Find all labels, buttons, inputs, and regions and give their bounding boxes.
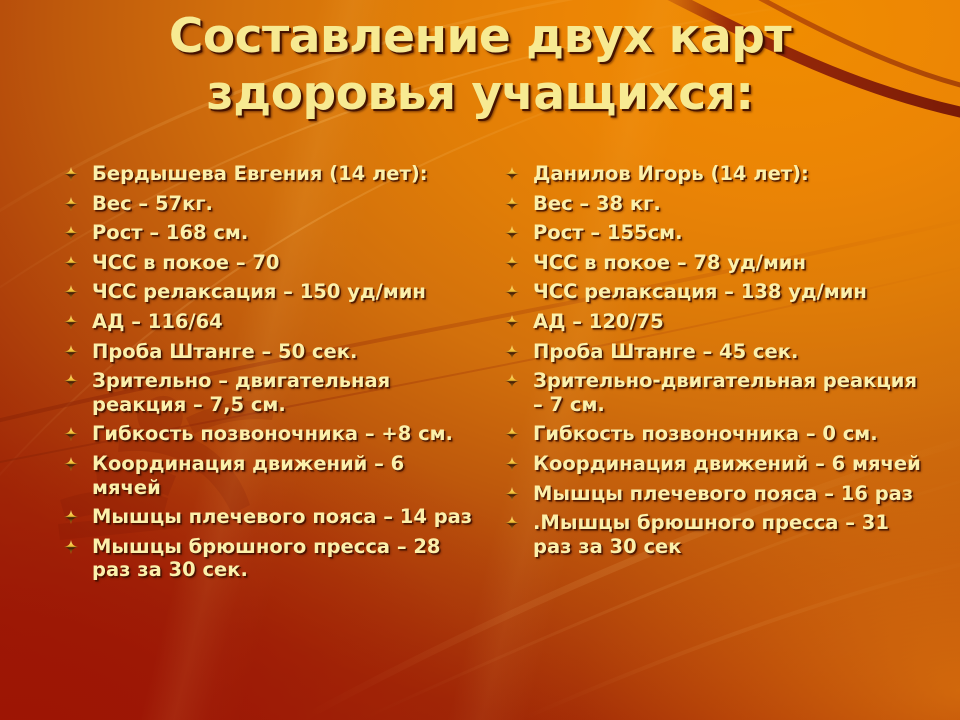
bullet-text: Зрительно-двигательная реакция – 7 см. — [533, 369, 917, 416]
bullet-item: Проба Штанге – 50 сек. — [58, 340, 478, 364]
bullet-text: АД – 116/64 — [92, 310, 223, 333]
four-point-star-bullet-icon — [505, 197, 519, 211]
bullet-text: .Мышцы брюшного пресса – 31 раз за 30 се… — [533, 511, 889, 558]
bullet-item: Гибкость позвоночника – 0 см. — [498, 422, 930, 446]
bullet-item: Вес – 57кг. — [58, 192, 478, 216]
bullet-text: ЧСС релаксация – 138 уд/мин — [533, 280, 867, 303]
four-point-star-bullet-icon — [64, 374, 78, 388]
four-point-star-bullet-icon — [64, 256, 78, 270]
bullet-item: Зрительно – двигательная реакция – 7,5 с… — [58, 369, 478, 416]
four-point-star-bullet-icon — [64, 285, 78, 299]
bullet-text: Данилов Игорь (14 лет): — [533, 162, 809, 185]
bullet-text: ЧСС релаксация – 150 уд/мин — [92, 280, 426, 303]
four-point-star-bullet-icon — [505, 487, 519, 501]
four-point-star-bullet-icon — [64, 315, 78, 329]
four-point-star-bullet-icon — [64, 197, 78, 211]
bullet-item: Мышцы брюшного пресса – 28 раз за 30 сек… — [58, 535, 478, 582]
bullet-text: Вес – 57кг. — [92, 192, 213, 215]
bullet-item: Рост – 155см. — [498, 221, 930, 245]
bullet-text: АД – 120/75 — [533, 310, 664, 333]
bullet-item: Мышцы плечевого пояса – 14 раз — [58, 505, 478, 529]
four-point-star-bullet-icon — [505, 345, 519, 359]
four-point-star-bullet-icon — [505, 427, 519, 441]
bullet-list-right: Данилов Игорь (14 лет):Вес – 38 кг.Рост … — [498, 162, 930, 558]
four-point-star-bullet-icon — [64, 427, 78, 441]
column-right-danilov: Данилов Игорь (14 лет):Вес – 38 кг.Рост … — [498, 162, 930, 564]
four-point-star-bullet-icon — [505, 226, 519, 240]
bullet-text: Координация движений – 6 мячей — [92, 452, 404, 499]
four-point-star-bullet-icon — [505, 315, 519, 329]
bullet-item: ЧСС в покое – 70 — [58, 251, 478, 275]
bullet-item: Мышцы плечевого пояса – 16 раз — [498, 482, 930, 506]
bullet-text: Рост – 155см. — [533, 221, 683, 244]
four-point-star-bullet-icon — [505, 256, 519, 270]
four-point-star-bullet-icon — [64, 540, 78, 554]
bullet-item: Рост – 168 см. — [58, 221, 478, 245]
bullet-item: .Мышцы брюшного пресса – 31 раз за 30 се… — [498, 511, 930, 558]
bullet-text: Вес – 38 кг. — [533, 192, 661, 215]
four-point-star-bullet-icon — [64, 457, 78, 471]
slide-title: Составление двух карт здоровья учащихся: — [0, 8, 960, 123]
bullet-item: АД – 120/75 — [498, 310, 930, 334]
bullet-item: АД – 116/64 — [58, 310, 478, 334]
bullet-text: Мышцы брюшного пресса – 28 раз за 30 сек… — [92, 535, 441, 582]
bullet-text: Рост – 168 см. — [92, 221, 248, 244]
bullet-text: Координация движений – 6 мячей — [533, 452, 921, 475]
bullet-item: ЧСС релаксация – 138 уд/мин — [498, 280, 930, 304]
four-point-star-bullet-icon — [64, 226, 78, 240]
bullet-item: Координация движений – 6 мячей — [58, 452, 478, 499]
bullet-text: Проба Штанге – 45 сек. — [533, 340, 798, 363]
bullet-text: ЧСС в покое – 78 уд/мин — [533, 251, 806, 274]
bullet-item: Вес – 38 кг. — [498, 192, 930, 216]
column-left-berdysheva: Бердышева Евгения (14 лет):Вес – 57кг.Ро… — [58, 162, 478, 588]
bullet-item: Зрительно-двигательная реакция – 7 см. — [498, 369, 930, 416]
bullet-item: ЧСС релаксация – 150 уд/мин — [58, 280, 478, 304]
bullet-list-left: Бердышева Евгения (14 лет):Вес – 57кг.Ро… — [58, 162, 478, 582]
bullet-text: ЧСС в покое – 70 — [92, 251, 280, 274]
bullet-item: ЧСС в покое – 78 уд/мин — [498, 251, 930, 275]
four-point-star-bullet-icon — [505, 374, 519, 388]
bullet-item: Проба Штанге – 45 сек. — [498, 340, 930, 364]
bullet-text: Проба Штанге – 50 сек. — [92, 340, 357, 363]
four-point-star-bullet-icon — [64, 510, 78, 524]
bullet-text: Гибкость позвоночника – +8 см. — [92, 422, 453, 445]
bullet-item: Гибкость позвоночника – +8 см. — [58, 422, 478, 446]
bullet-text: Бердышева Евгения (14 лет): — [92, 162, 428, 185]
four-point-star-bullet-icon — [64, 345, 78, 359]
bullet-item: Координация движений – 6 мячей — [498, 452, 930, 476]
bullet-item: Данилов Игорь (14 лет): — [498, 162, 930, 186]
presentation-slide: Составление двух карт здоровья учащихся:… — [0, 0, 960, 720]
bullet-text: Гибкость позвоночника – 0 см. — [533, 422, 878, 445]
four-point-star-bullet-icon — [505, 516, 519, 530]
bullet-item: Бердышева Евгения (14 лет): — [58, 162, 478, 186]
four-point-star-bullet-icon — [505, 285, 519, 299]
four-point-star-bullet-icon — [64, 167, 78, 181]
four-point-star-bullet-icon — [505, 167, 519, 181]
bullet-text: Мышцы плечевого пояса – 14 раз — [92, 505, 472, 528]
bullet-text: Зрительно – двигательная реакция – 7,5 с… — [92, 369, 390, 416]
bullet-text: Мышцы плечевого пояса – 16 раз — [533, 482, 913, 505]
four-point-star-bullet-icon — [505, 457, 519, 471]
